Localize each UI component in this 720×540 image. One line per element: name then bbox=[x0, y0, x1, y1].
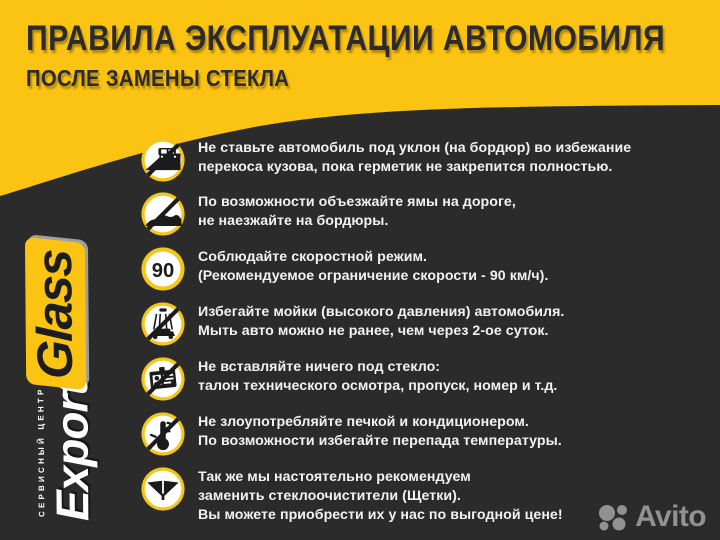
rule-item: Не ставьте автомобиль под уклон (на борд… bbox=[140, 135, 710, 183]
rule-line: талон технического осмотра, пропуск, ном… bbox=[198, 377, 710, 396]
avito-dots-icon bbox=[597, 503, 631, 531]
rule-line: Не вставляйте ничего под стекло: bbox=[198, 358, 710, 377]
rule-line: не наезжайте на бордюры. bbox=[198, 212, 710, 231]
poster-root: ПРАВИЛА ЭКСПЛУАТАЦИИ АВТОМОБИЛЯ ПОСЛЕ ЗА… bbox=[0, 0, 720, 540]
rule-text: Избегайте мойки (высокого давления) авто… bbox=[198, 299, 710, 341]
rule-line: По возможности объезжайте ямы на дороге, bbox=[198, 193, 710, 212]
rules-list: Не ставьте автомобиль под уклон (на борд… bbox=[140, 135, 710, 525]
wiper-blades-icon bbox=[140, 466, 186, 512]
rule-text: По возможности объезжайте ямы на дороге,… bbox=[198, 189, 710, 231]
no-documents-under-glass-icon bbox=[140, 356, 186, 402]
rule-text: Соблюдайте скоростной режим. (Рекомендуе… bbox=[198, 244, 710, 286]
rule-line: Соблюдайте скоростной режим. bbox=[198, 248, 710, 267]
rule-line: перекоса кузова, пока герметик не закреп… bbox=[198, 158, 710, 177]
brand-logo-rotated: СЕРВИСНЫЙ ЦЕНТР Export Glass bbox=[9, 195, 132, 525]
rule-line: (Рекомендуемое ограничение скорости - 90… bbox=[198, 267, 710, 286]
no-potholes-icon bbox=[140, 191, 186, 237]
rule-text: Не вставляйте ничего под стекло: талон т… bbox=[198, 354, 710, 396]
rule-item: Не вставляйте ничего под стекло: талон т… bbox=[140, 354, 710, 402]
no-temperature-change-icon bbox=[140, 411, 186, 457]
no-parking-on-slope-icon bbox=[140, 137, 186, 183]
rule-item: 90 Соблюдайте скоростной режим. (Рекомен… bbox=[140, 244, 710, 292]
avito-label: Avito bbox=[635, 502, 706, 532]
speed-limit-value: 90 bbox=[152, 260, 175, 282]
brand-word-glass-box: Glass bbox=[25, 237, 86, 390]
rule-item: Не злоупотребляйте печкой и кондиционеро… bbox=[140, 409, 710, 457]
rule-line: Мыть авто можно не ранее, чем через 2-ое… bbox=[198, 322, 710, 341]
no-car-wash-icon bbox=[140, 301, 186, 347]
brand-logo: СЕРВИСНЫЙ ЦЕНТР Export Glass bbox=[10, 195, 130, 525]
rule-line: Избегайте мойки (высокого давления) авто… bbox=[198, 303, 710, 322]
avito-watermark: Avito bbox=[597, 502, 706, 532]
rule-line: Так же мы настоятельно рекомендуем bbox=[198, 468, 710, 487]
brand-word-export: Export bbox=[48, 381, 95, 521]
rule-item: Избегайте мойки (высокого давления) авто… bbox=[140, 299, 710, 347]
speed-limit-90-icon: 90 bbox=[140, 246, 186, 292]
rule-line: По возможности избегайте перепада темпер… bbox=[198, 432, 710, 451]
rule-line: Не злоупотребляйте печкой и кондиционеро… bbox=[198, 413, 710, 432]
rule-line: Не ставьте автомобиль под уклон (на борд… bbox=[198, 139, 710, 158]
brand-word-glass: Glass bbox=[29, 249, 80, 379]
rule-text: Не злоупотребляйте печкой и кондиционеро… bbox=[198, 409, 710, 451]
rule-text: Не ставьте автомобиль под уклон (на борд… bbox=[198, 135, 710, 177]
rule-item: По возможности объезжайте ямы на дороге,… bbox=[140, 189, 710, 237]
